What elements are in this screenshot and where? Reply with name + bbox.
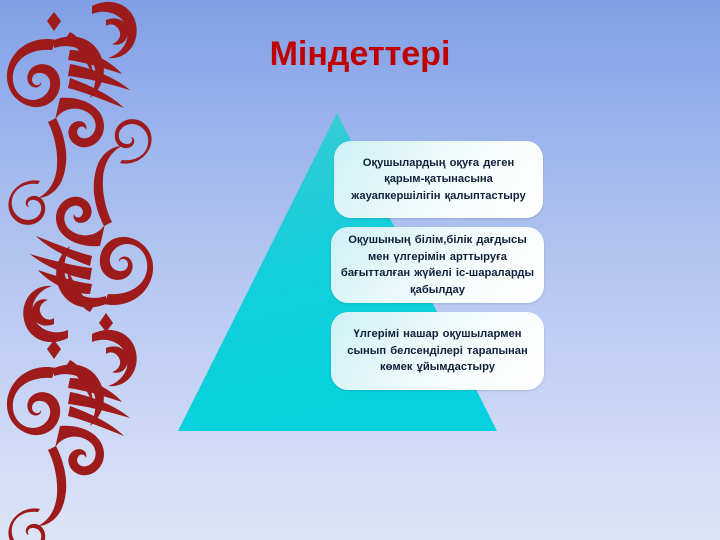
slide-canvas: Міндеттері Оқушылардың оқуға деген қарым…: [0, 0, 720, 540]
callout-box-2-text: Оқушының білім,білік дағдысы мен үлгерім…: [331, 232, 544, 298]
callout-box-3[interactable]: Үлгерімі нашар оқушылармен сынып белсенд…: [331, 312, 544, 390]
slide-title: Міндеттері: [160, 32, 560, 76]
callout-box-1[interactable]: Оқушылардың оқуға деген қарым-қатынасына…: [334, 141, 543, 218]
callout-box-2[interactable]: Оқушының білім,білік дағдысы мен үлгерім…: [331, 227, 544, 303]
callout-box-3-text: Үлгерімі нашар оқушылармен сынып белсенд…: [331, 326, 544, 376]
red-floral-flourish-border-icon: [0, 0, 160, 540]
callout-box-1-text: Оқушылардың оқуға деген қарым-қатынасына…: [334, 155, 543, 205]
